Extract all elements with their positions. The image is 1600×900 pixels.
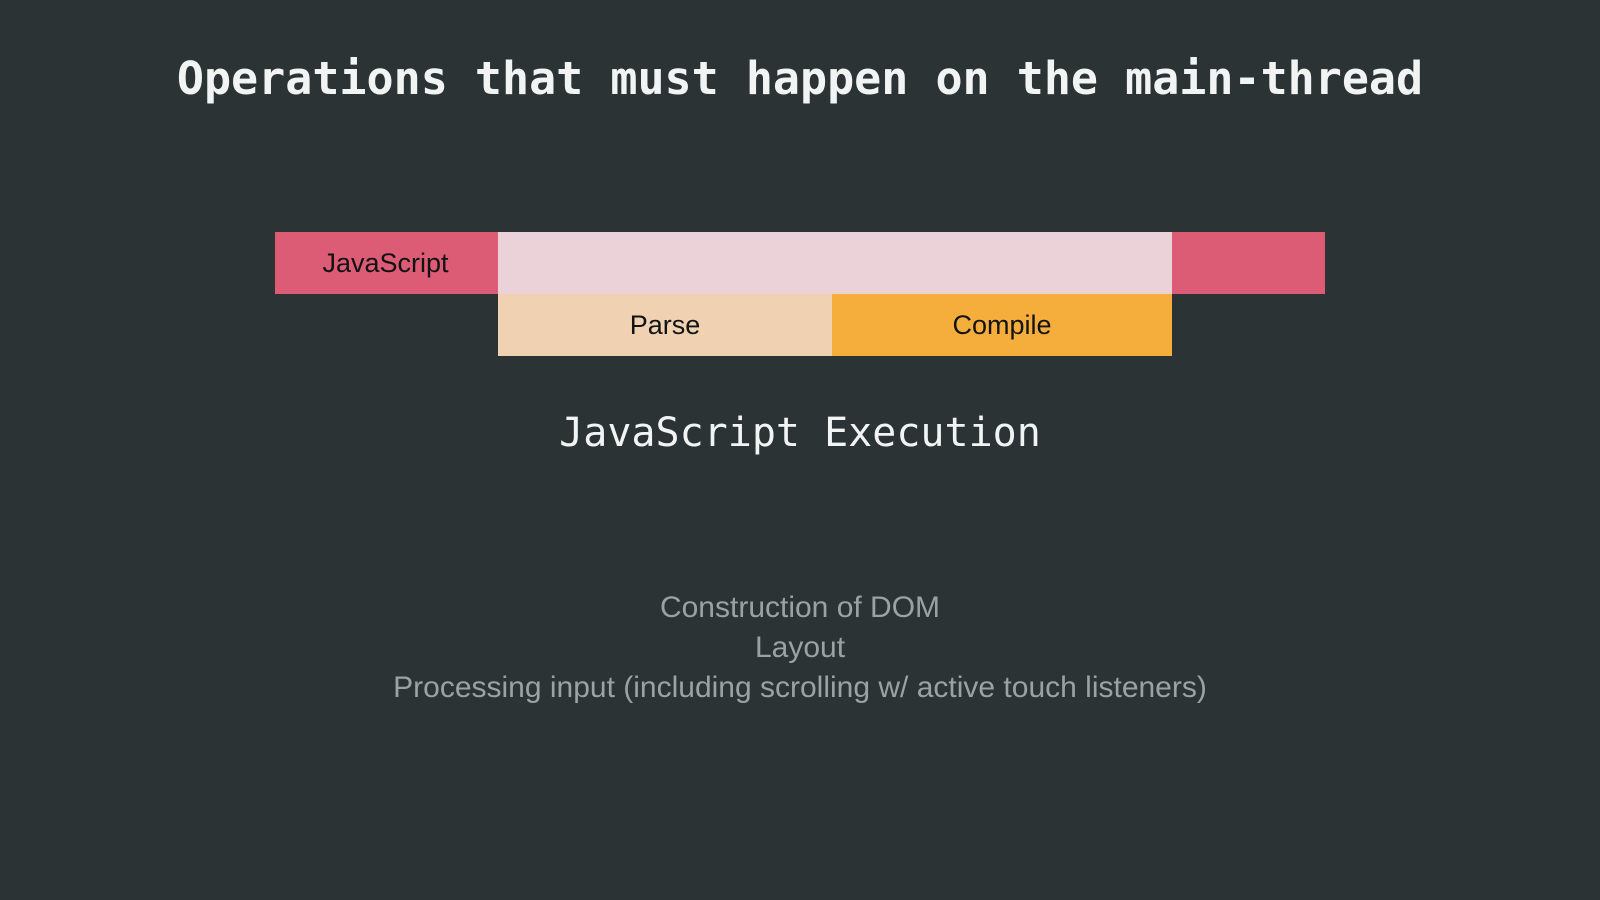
timeline-segment-javascript: JavaScript (275, 232, 498, 294)
javascript-execution-caption: JavaScript Execution (0, 410, 1600, 456)
timeline-segment-parse: Parse (498, 294, 832, 356)
note-line-processing-input: Processing input (including scrolling w/… (0, 668, 1600, 708)
timeline-segment-compile-label: Compile (952, 312, 1051, 339)
note-line-construction-of-dom: Construction of DOM (0, 588, 1600, 628)
timeline-segment-javascript-body (498, 232, 1172, 294)
timeline-segment-compile: Compile (832, 294, 1172, 356)
timeline-segment-javascript-tail (1172, 232, 1325, 294)
timeline-row-phases: Parse Compile (275, 294, 1325, 356)
note-line-layout: Layout (0, 628, 1600, 668)
timeline-segment-parse-label: Parse (630, 312, 701, 339)
main-thread-timeline-diagram: JavaScript Parse Compile (275, 232, 1325, 356)
main-thread-notes-list: Construction of DOM Layout Processing in… (0, 588, 1600, 708)
page-title: Operations that must happen on the main-… (0, 52, 1600, 105)
slide-canvas: Operations that must happen on the main-… (0, 0, 1600, 900)
timeline-row-javascript: JavaScript (275, 232, 1325, 294)
timeline-segment-javascript-label: JavaScript (322, 250, 450, 277)
